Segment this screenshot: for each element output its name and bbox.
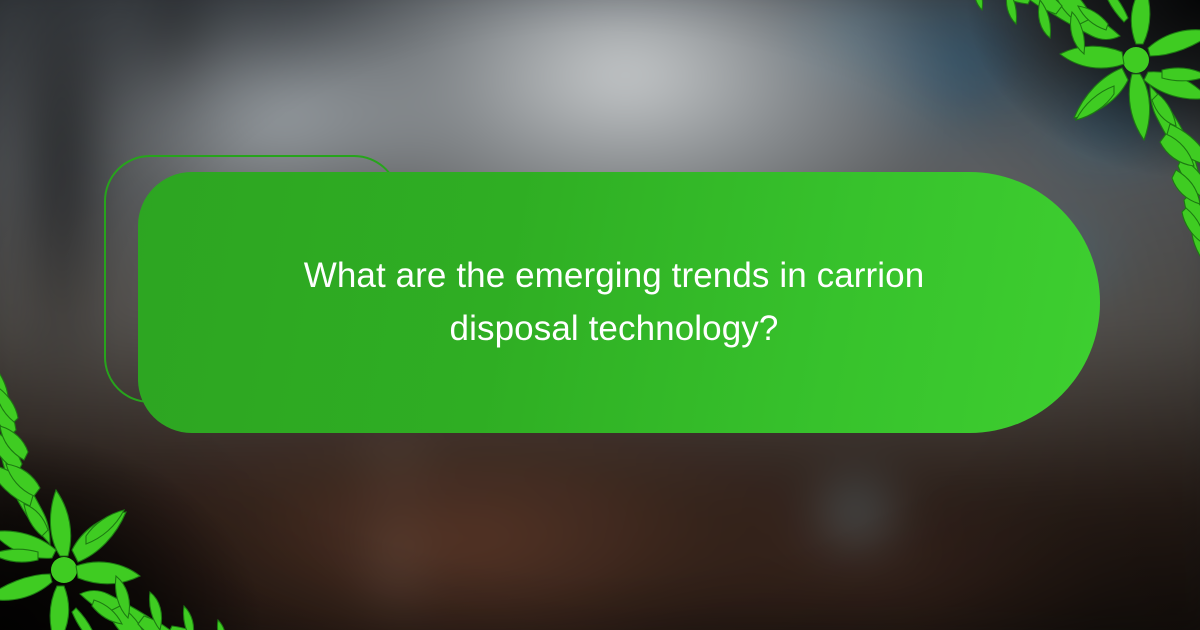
promo-card-canvas: What are the emerging trends in carrion … [0,0,1200,630]
headline-card: What are the emerging trends in carrion … [138,172,1100,433]
page-title: What are the emerging trends in carrion … [264,250,964,355]
